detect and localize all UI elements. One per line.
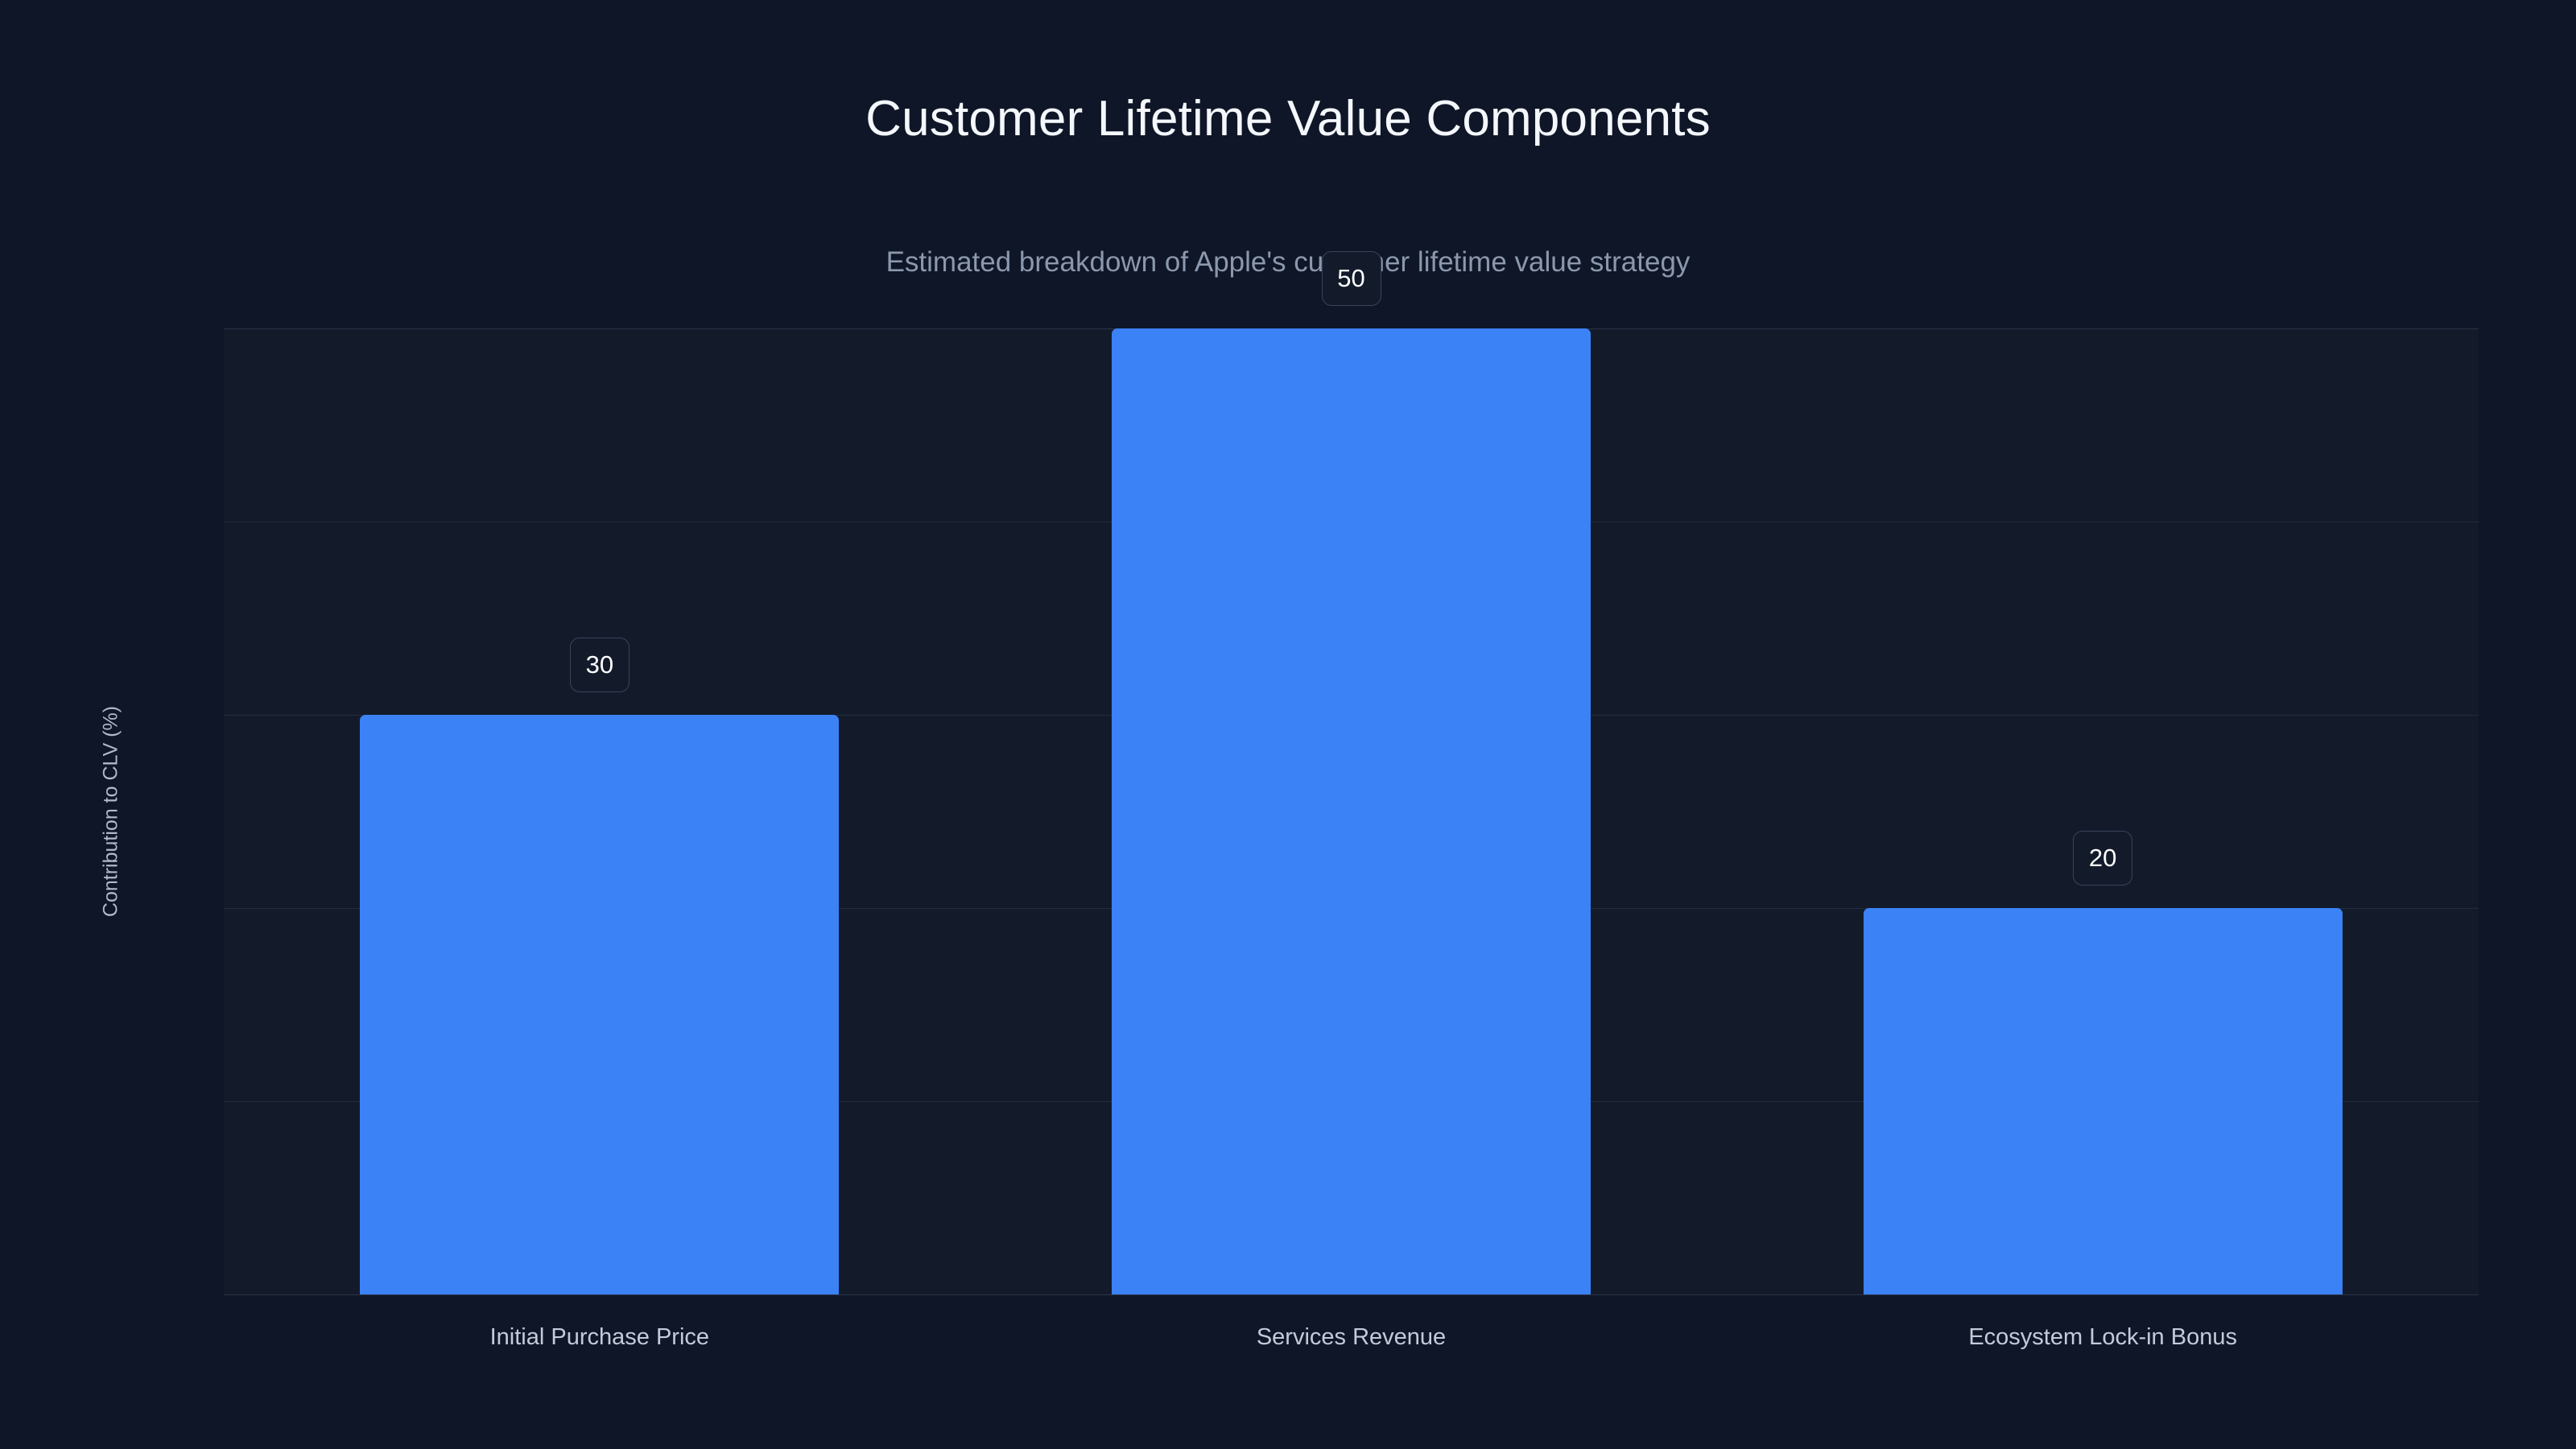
bar-0[interactable] (360, 715, 839, 1294)
y-axis-title: Contribution to CLV (%) (100, 706, 123, 917)
x-axis-tick-label-1: Services Revenue (1257, 1324, 1446, 1351)
bar-1[interactable] (1112, 328, 1591, 1294)
bar-value-label-2: 20 (2073, 831, 2132, 885)
bar-2[interactable] (1864, 908, 2343, 1294)
bar-value-label-0: 30 (570, 638, 630, 692)
chart-title: Customer Lifetime Value Components (0, 90, 2576, 147)
chart-canvas: Customer Lifetime Value Components Estim… (0, 0, 2576, 1449)
bar-value-label-1: 50 (1322, 251, 1381, 306)
chart-subtitle: Estimated breakdown of Apple's customer … (0, 246, 2576, 279)
x-axis-tick-label-2: Ecosystem Lock-in Bonus (1968, 1324, 2237, 1351)
x-axis-tick-label-0: Initial Purchase Price (490, 1324, 709, 1351)
gridline (224, 1294, 2479, 1295)
